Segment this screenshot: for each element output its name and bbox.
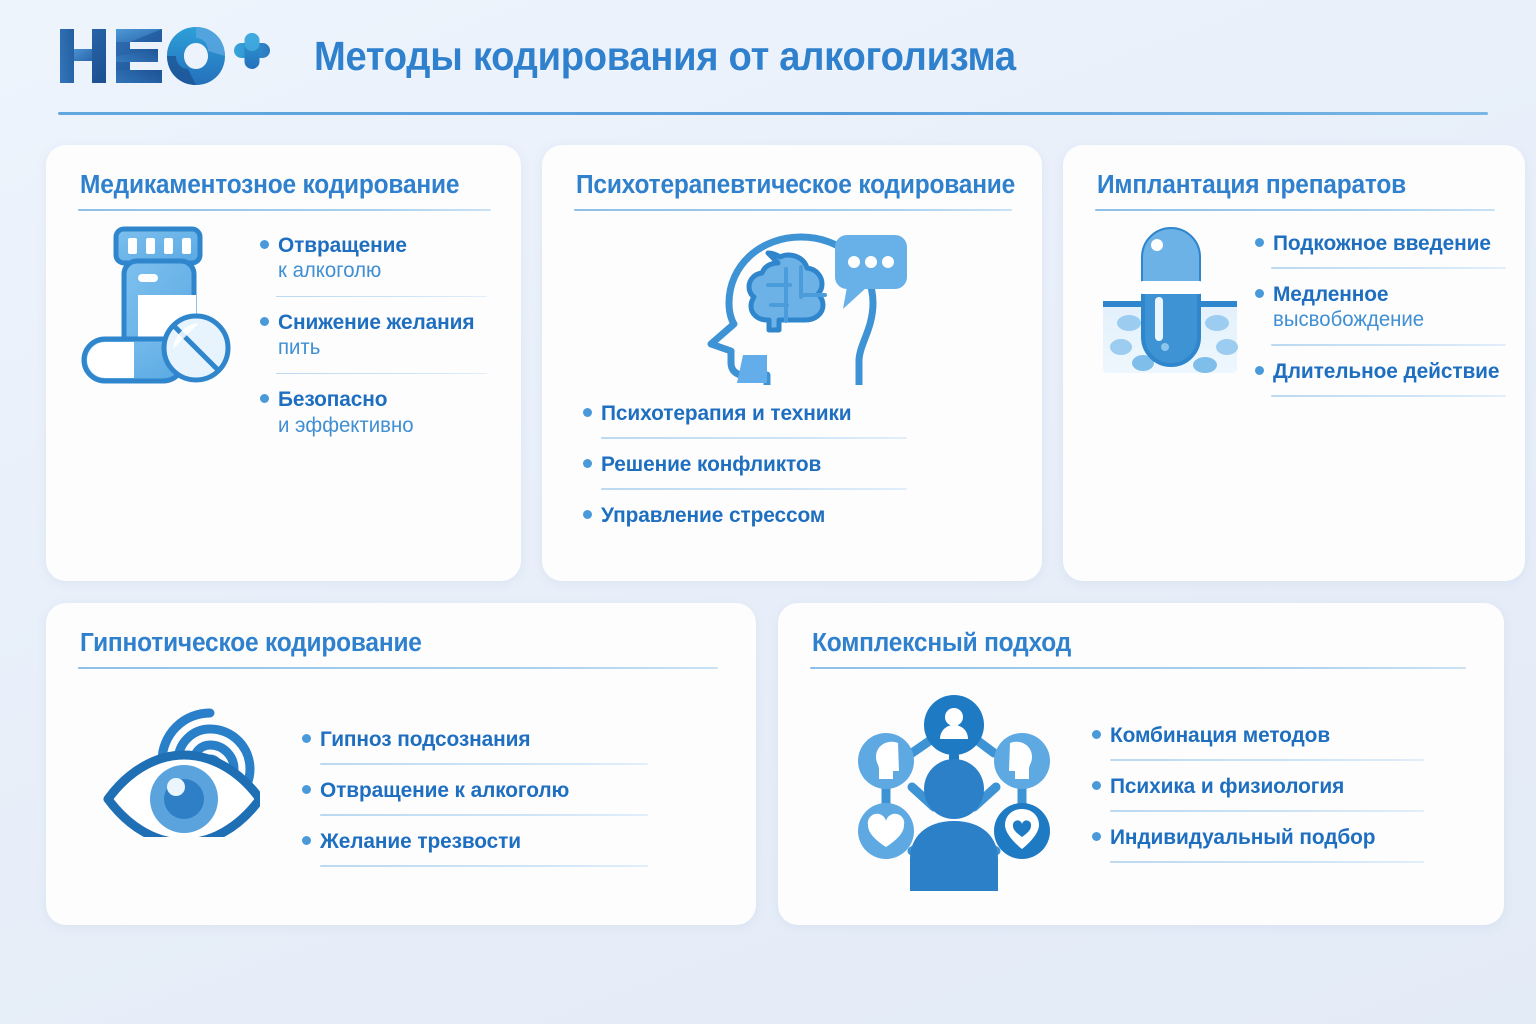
bullet-line-primary: Снижение желания <box>278 310 485 335</box>
bullet-dot-icon <box>1255 366 1264 375</box>
list-item[interactable]: Психика и физиология <box>1092 774 1474 812</box>
list-item[interactable]: Отвращение к алкоголю <box>260 233 491 297</box>
bullet-line-primary: Психика и физиология <box>1110 774 1463 799</box>
card-title-complex-approach: Комплексный подход <box>812 629 1448 658</box>
hypnosis-eye-spiral-icon <box>102 697 260 837</box>
capsule-implant-icon <box>1095 223 1245 383</box>
bullet-separator <box>601 437 907 439</box>
bullet-list-psychotherapy: Психотерапия и техники Решение конфликто… <box>565 399 1021 528</box>
bullet-separator <box>1271 395 1506 397</box>
card-title-psychotherapy: Психотерапевтическое кодирование <box>576 171 995 200</box>
bullet-dot-icon <box>583 408 592 417</box>
card-implantation[interactable]: Имплантация препаратов <box>1063 145 1525 581</box>
pill-bottle-icon <box>78 217 248 392</box>
bullet-line-primary: Комбинация методов <box>1110 723 1463 748</box>
bullet-separator <box>601 488 907 490</box>
bullet-line-secondary: высвобождение <box>1273 307 1499 333</box>
bullet-dot-icon <box>260 317 269 326</box>
page-title: Методы кодирования от алкоголизма <box>314 33 1016 80</box>
bullet-separator <box>320 814 648 816</box>
bullet-line-primary: Индивидуальный подбор <box>1110 825 1463 850</box>
bullet-list-complex-approach: Комбинация методов Психика и физиология <box>1068 675 1474 863</box>
bullet-dot-icon <box>583 510 592 519</box>
bullet-dot-icon <box>583 459 592 468</box>
list-item[interactable]: Желание трезвости <box>302 829 726 867</box>
list-item[interactable]: Решение конфликтов <box>583 452 1021 490</box>
card-title-medication: Медикаментозное кодирование <box>80 171 475 200</box>
head-brain-speech-icon <box>675 229 911 385</box>
people-network-icon <box>846 691 1060 891</box>
bullet-separator <box>320 763 648 765</box>
card-title-underline <box>78 209 491 211</box>
bullet-separator <box>276 373 487 375</box>
cards-row-top: Медикаментозное кодирование <box>46 145 1490 581</box>
list-item[interactable]: Безопасно и эффективно <box>260 387 491 439</box>
list-item[interactable]: Управление стрессом <box>583 503 1021 528</box>
bullet-line-primary: Отвращение к алкоголю <box>320 778 714 803</box>
card-complex-approach[interactable]: Комплексный подход <box>778 603 1504 925</box>
bullet-dot-icon <box>302 734 311 743</box>
card-title-underline <box>810 667 1466 669</box>
bullet-dot-icon <box>1092 781 1101 790</box>
card-hypnosis[interactable]: Гипнотическое кодирование <box>46 603 756 925</box>
card-title-underline <box>574 209 1012 211</box>
bullet-line-primary: Управление стрессом <box>601 503 1008 528</box>
bullet-list-hypnosis: Гипноз подсознания Отвращение к алкоголю <box>268 675 726 867</box>
bullet-separator <box>1110 861 1424 863</box>
card-medication[interactable]: Медикаментозное кодирование <box>46 145 521 581</box>
header-divider <box>58 112 1488 115</box>
bullet-line-primary: Желание трезвости <box>320 829 714 854</box>
bullet-line-secondary: к алкоголю <box>278 258 485 284</box>
bullet-dot-icon <box>260 394 269 403</box>
bullet-line-primary: Психотерапия и техники <box>601 401 1008 426</box>
bullet-dot-icon <box>260 240 269 249</box>
card-psychotherapy[interactable]: Психотерапевтическое кодирование <box>542 145 1042 581</box>
bullet-line-primary: Безопасно <box>278 387 485 412</box>
list-item[interactable]: Индивидуальный подбор <box>1092 825 1474 863</box>
bullet-dot-icon <box>302 836 311 845</box>
neo-plus-logo <box>58 26 272 86</box>
bullet-line-secondary: и эффективно <box>278 413 485 439</box>
bullet-line-secondary: пить <box>278 335 485 361</box>
bullet-separator <box>276 296 487 298</box>
bullet-dot-icon <box>1092 832 1101 841</box>
card-title-implantation: Имплантация препаратов <box>1097 171 1479 200</box>
bullet-separator <box>1110 759 1424 761</box>
list-item[interactable]: Комбинация методов <box>1092 723 1474 761</box>
list-item[interactable]: Отвращение к алкоголю <box>302 778 726 816</box>
card-title-underline <box>78 667 718 669</box>
bullet-line-primary: Медленное <box>1273 282 1499 307</box>
bullet-line-primary: Длительное действие <box>1273 359 1499 384</box>
bullet-dot-icon <box>1255 238 1264 247</box>
bullet-line-primary: Решение конфликтов <box>601 452 1008 477</box>
bullet-line-primary: Подкожное введение <box>1273 231 1499 256</box>
list-item[interactable]: Длительное действие <box>1255 359 1506 397</box>
list-item[interactable]: Снижение желания пить <box>260 310 491 374</box>
bullet-line-primary: Гипноз подсознания <box>320 727 714 752</box>
bullet-line-primary: Отвращение <box>278 233 485 258</box>
bullet-list-implantation: Подкожное введение Медленное высвобожден… <box>1253 217 1506 397</box>
bullet-separator <box>1110 810 1424 812</box>
card-title-underline <box>1095 209 1495 211</box>
infographic-page: Методы кодирования от алкоголизма Медика… <box>0 0 1536 1024</box>
list-item[interactable]: Гипноз подсознания <box>302 727 726 765</box>
bullet-list-medication: Отвращение к алкоголю Снижение желания п… <box>256 217 491 439</box>
list-item[interactable]: Медленное высвобождение <box>1255 282 1506 346</box>
bullet-separator <box>1271 267 1506 269</box>
list-item[interactable]: Подкожное введение <box>1255 231 1506 269</box>
bullet-dot-icon <box>1255 289 1264 298</box>
bullet-separator <box>1271 344 1506 346</box>
bullet-dot-icon <box>1092 730 1101 739</box>
card-title-hypnosis: Гипнотическое кодирование <box>80 629 700 658</box>
cards-row-bottom: Гипнотическое кодирование <box>46 603 1490 925</box>
bullet-dot-icon <box>302 785 311 794</box>
bullet-separator <box>320 865 648 867</box>
page-header: Методы кодирования от алкоголизма <box>46 0 1490 112</box>
list-item[interactable]: Психотерапия и техники <box>583 401 1021 439</box>
